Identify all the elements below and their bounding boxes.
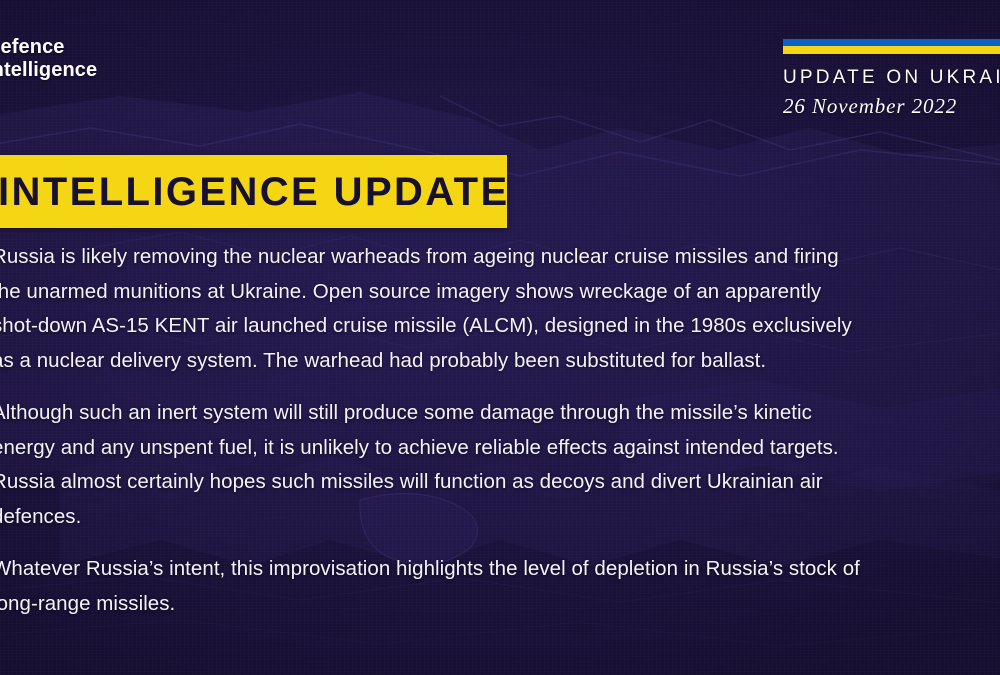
paragraph-1-line-3: shot-down AS-15 KENT air launched cruise… xyxy=(0,309,1000,344)
paragraph-1-line-4: as a nuclear delivery system. The warhea… xyxy=(0,344,1000,379)
paragraph-3-line-1: Whatever Russia’s intent, this improvisa… xyxy=(0,552,1000,587)
intelligence-update-banner: INTELLIGENCE UPDATE xyxy=(0,155,507,228)
flag-stripe-blue xyxy=(783,39,1000,46)
update-date: 26 November 2022 xyxy=(783,93,1000,119)
flag-stripe-yellow xyxy=(783,46,1000,54)
logo-line-intelligence: Intelligence xyxy=(0,59,97,82)
paragraph-3: Whatever Russia’s intent, this improvisa… xyxy=(0,552,1000,621)
paragraph-1-line-2: the unarmed munitions at Ukraine. Open s… xyxy=(0,275,1000,310)
paragraph-2: Although such an inert system will still… xyxy=(0,396,1000,534)
paragraph-2-line-4: defences. xyxy=(0,500,1000,535)
paragraph-2-line-1: Although such an inert system will still… xyxy=(0,396,1000,431)
paragraph-2-line-2: energy and any unspent fuel, it is unlik… xyxy=(0,431,1000,466)
body-copy: Russia is likely removing the nuclear wa… xyxy=(0,240,1000,621)
paragraph-1: Russia is likely removing the nuclear wa… xyxy=(0,240,1000,378)
update-on-ukraine-label: UPDATE ON UKRAINE xyxy=(783,66,1000,90)
paragraph-1-line-1: Russia is likely removing the nuclear wa… xyxy=(0,240,1000,275)
defence-intelligence-logo: Defence Intelligence xyxy=(0,36,97,82)
logo-line-defence: Defence xyxy=(0,36,97,59)
ukraine-flag-bar xyxy=(783,39,1000,54)
paragraph-3-line-2: long-range missiles. xyxy=(0,587,1000,622)
banner-title: INTELLIGENCE UPDATE xyxy=(0,172,510,212)
intelligence-update-graphic: Defence Intelligence UPDATE ON UKRAINE 2… xyxy=(0,0,1000,675)
paragraph-2-line-3: Russia almost certainly hopes such missi… xyxy=(0,465,1000,500)
header-title-block: UPDATE ON UKRAINE 26 November 2022 xyxy=(783,66,1000,119)
